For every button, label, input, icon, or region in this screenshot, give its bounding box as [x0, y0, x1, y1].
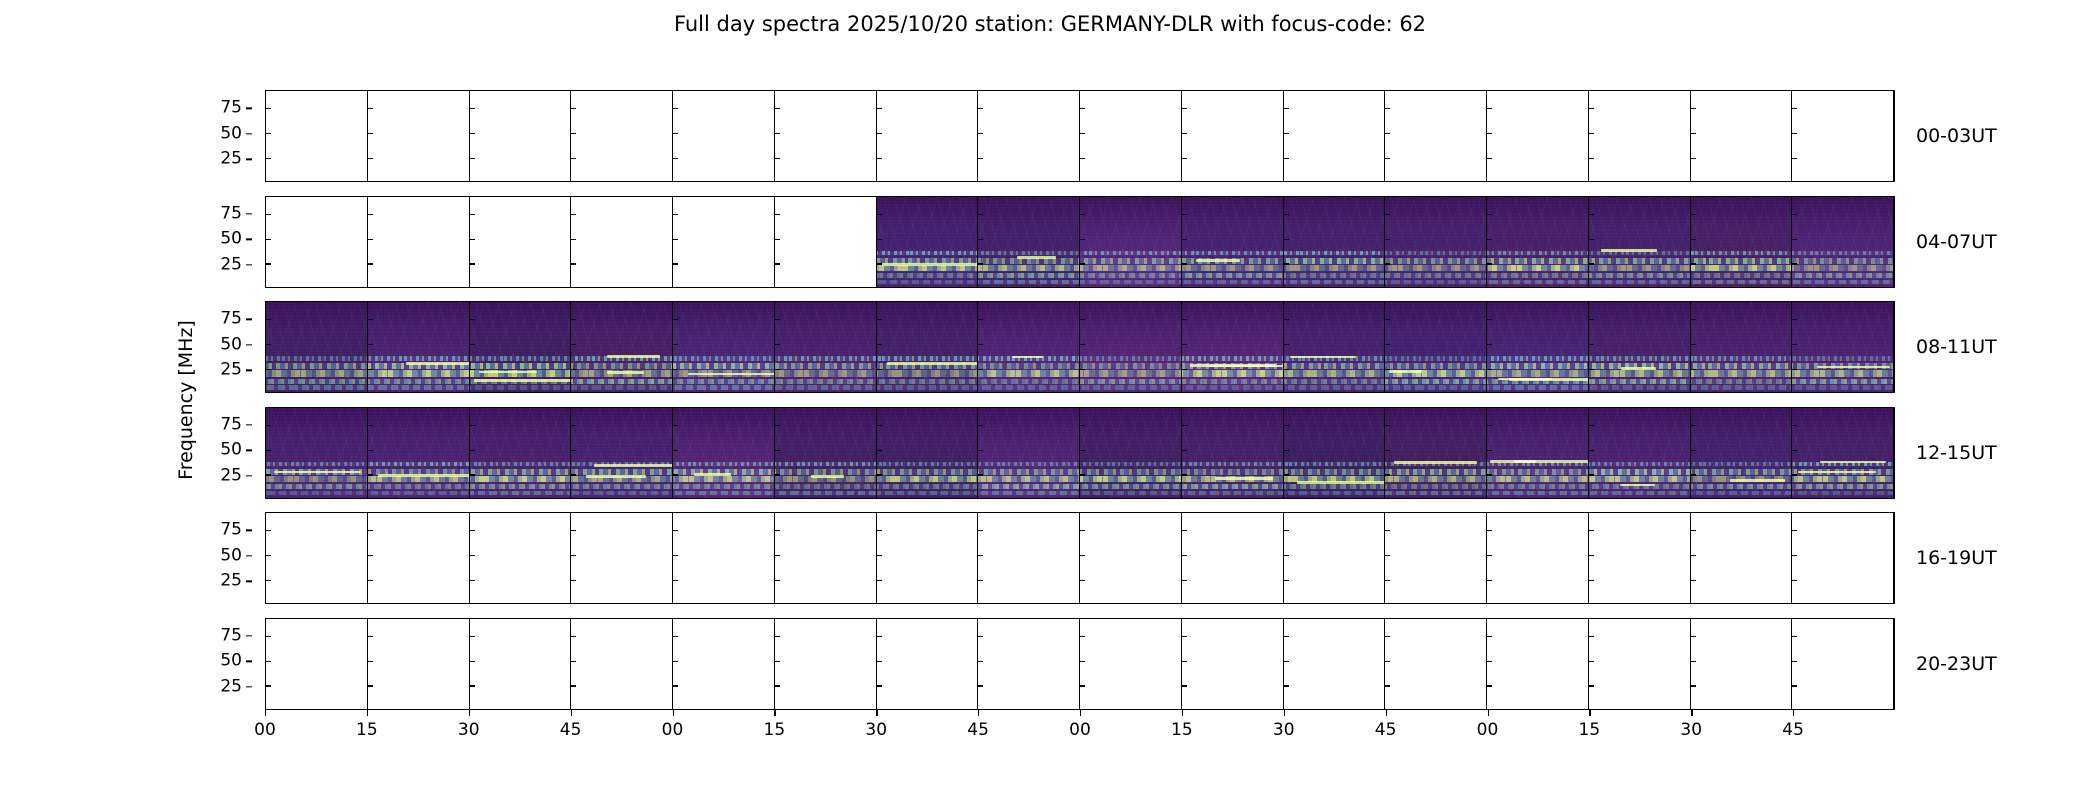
signal-band: [1792, 258, 1893, 264]
panel-tick-mark: [1182, 450, 1187, 451]
panel-tick-mark: [571, 133, 576, 134]
panel-tick-mark: [470, 344, 475, 345]
spectrogram-panel[interactable]: [1691, 408, 1793, 498]
panel-tick-mark: [978, 661, 983, 662]
signal-band: [1080, 258, 1181, 264]
panel-tick-mark: [470, 133, 475, 134]
spectrogram-panel[interactable]: [470, 302, 572, 392]
panel-tick-mark: [1284, 474, 1289, 475]
spectrogram-panel[interactable]: [1284, 302, 1386, 392]
signal-band: [1284, 491, 1385, 496]
spectrogram-image: [1385, 408, 1486, 498]
spectrogram-panel[interactable]: [1080, 91, 1182, 181]
spectrogram-panel[interactable]: [571, 302, 673, 392]
panel-tick-mark: [1691, 661, 1696, 662]
spectrogram-panel[interactable]: [1080, 513, 1182, 603]
panel-tick-mark: [1589, 580, 1594, 581]
panel-tick-mark: [266, 214, 271, 215]
y-tick-labels: 755025: [204, 302, 252, 394]
spectrogram-panel[interactable]: [266, 513, 368, 603]
spectrogram-panel[interactable]: [1385, 408, 1487, 498]
panel-tick-mark: [1385, 661, 1390, 662]
panel-tick-mark: [673, 133, 678, 134]
panel-tick-mark: [1691, 685, 1696, 686]
panel-tick-mark: [1385, 214, 1390, 215]
bright-streak: [1209, 365, 1283, 368]
spectrogram-panel[interactable]: [1284, 197, 1386, 287]
panel-tick-mark: [1691, 344, 1696, 345]
signal-band: [1487, 363, 1588, 369]
panel-tick-mark: [1080, 158, 1085, 159]
spectrogram-panel[interactable]: [368, 197, 470, 287]
panel-tick-mark: [1284, 661, 1289, 662]
spectrogram-panel[interactable]: [877, 91, 979, 181]
spectrogram-panel[interactable]: [1284, 91, 1386, 181]
spectrogram-image: [1691, 197, 1792, 287]
signal-band: [1589, 469, 1690, 475]
spectrogram-row: 75502516-19UT: [265, 512, 1895, 604]
signal-band: [1792, 356, 1893, 361]
spectrogram-panel[interactable]: [775, 197, 877, 287]
panel-tick-mark: [877, 555, 882, 556]
spectrogram-panel[interactable]: [1080, 302, 1182, 392]
panel-tick-mark: [1182, 636, 1187, 637]
panel-tick-mark: [978, 474, 983, 475]
panel-tick-mark: [1792, 425, 1797, 426]
signal-band: [978, 491, 1079, 496]
spectrogram-panel[interactable]: [673, 302, 775, 392]
spectrogram-panel[interactable]: [1691, 197, 1793, 287]
panel-tick-mark: [266, 108, 271, 109]
signal-band: [470, 356, 571, 361]
spectrogram-panel[interactable]: [1792, 302, 1894, 392]
y-tick-labels: 755025: [204, 197, 252, 289]
signal-band: [775, 462, 876, 467]
bright-streak: [1215, 477, 1273, 480]
panel-tick-mark: [673, 369, 678, 370]
panel-tick-mark: [1080, 474, 1085, 475]
signal-band: [571, 363, 672, 369]
spectrogram-panel[interactable]: [571, 197, 673, 287]
panel-tick-mark: [1182, 685, 1187, 686]
panel-tick-mark: [1487, 685, 1492, 686]
signal-band: [368, 385, 469, 390]
panel-tick-mark: [673, 555, 678, 556]
panel-tick-mark: [1284, 263, 1289, 264]
row-time-label: 12-15UT: [1916, 442, 1997, 464]
spectrogram-panel[interactable]: [1589, 302, 1691, 392]
bright-streak: [1394, 461, 1477, 464]
bright-streak: [479, 371, 538, 374]
spectrogram-panel[interactable]: [571, 91, 673, 181]
y-tick-mark: [246, 159, 252, 160]
panel-tick-mark: [571, 636, 576, 637]
spectrogram-panel[interactable]: [1385, 513, 1487, 603]
signal-band: [1792, 251, 1893, 256]
panel-tick-mark: [470, 450, 475, 451]
spectrogram-image: [1284, 408, 1385, 498]
panel-tick-mark: [368, 474, 373, 475]
panel-tick-mark: [978, 344, 983, 345]
y-tick-label: 25: [220, 151, 242, 168]
panel-tick-mark: [1182, 344, 1187, 345]
x-tick-label: 45: [967, 720, 989, 740]
y-tick-mark: [246, 264, 252, 265]
signal-band: [978, 370, 1079, 376]
spectrogram-panel[interactable]: [266, 408, 368, 498]
panel-tick-mark: [571, 661, 576, 662]
panel-tick-mark: [673, 580, 678, 581]
x-tick-label: 45: [1782, 720, 1804, 740]
spectrogram-panel[interactable]: [1589, 197, 1691, 287]
spectrogram-panel[interactable]: [368, 91, 470, 181]
panel-tick-mark: [1182, 661, 1187, 662]
spectrogram-panel[interactable]: [470, 619, 572, 709]
signal-band: [266, 379, 367, 384]
signal-band: [571, 385, 672, 390]
spectrogram-panel[interactable]: [1182, 197, 1284, 287]
signal-band: [368, 491, 469, 496]
spectrogram-panel[interactable]: [1792, 513, 1894, 603]
spectrogram-panel[interactable]: [877, 408, 979, 498]
panel-tick-mark: [266, 263, 271, 264]
spectrogram-panel[interactable]: [1589, 408, 1691, 498]
signal-band: [1080, 385, 1181, 390]
spectrogram-panel[interactable]: [775, 91, 877, 181]
y-tick-label: 25: [220, 573, 242, 590]
x-tick-label: 30: [865, 720, 887, 740]
panel-tick-mark: [1792, 530, 1797, 531]
signal-band: [775, 385, 876, 390]
row-time-label: 04-07UT: [1916, 231, 1997, 253]
spectrogram-panel[interactable]: [266, 302, 368, 392]
spectrogram-panel[interactable]: [1792, 619, 1894, 709]
bright-streak: [694, 473, 731, 476]
spectrogram-panel[interactable]: [978, 197, 1080, 287]
y-tick-mark: [246, 133, 252, 134]
spectrogram-image: [1487, 197, 1588, 287]
spectrogram-panel[interactable]: [1182, 408, 1284, 498]
spectrogram-panel[interactable]: [673, 408, 775, 498]
panel-tick-mark: [1182, 108, 1187, 109]
spectrogram-panel[interactable]: [978, 302, 1080, 392]
panel-tick-mark: [1182, 474, 1187, 475]
x-tick-label: 30: [458, 720, 480, 740]
panel-tick-mark: [266, 319, 271, 320]
spectrogram-panel[interactable]: [978, 513, 1080, 603]
signal-band: [978, 469, 1079, 475]
bright-streak: [274, 471, 361, 474]
spectrogram-panel[interactable]: [775, 302, 877, 392]
signal-band: [1487, 251, 1588, 256]
spectrogram-panel[interactable]: [1182, 619, 1284, 709]
signal-band: [877, 469, 978, 475]
panel-tick-mark: [673, 530, 678, 531]
panel-tick-mark: [1589, 344, 1594, 345]
y-tick-mark: [246, 530, 252, 531]
x-tick-mark: [1284, 710, 1285, 716]
spectrogram-panel[interactable]: [1691, 91, 1793, 181]
x-tick-label: 30: [1273, 720, 1295, 740]
y-tick-mark: [246, 213, 252, 214]
spectrogram-panel[interactable]: [266, 619, 368, 709]
spectrogram-panel[interactable]: [1487, 302, 1589, 392]
panel-tick-mark: [673, 425, 678, 426]
x-tick-mark: [1386, 710, 1387, 716]
signal-band: [978, 484, 1079, 489]
panel-tick-mark: [266, 580, 271, 581]
spectrogram-panel[interactable]: [673, 513, 775, 603]
spectrogram-panel[interactable]: [1284, 619, 1386, 709]
bright-streak: [1620, 484, 1655, 487]
spectrogram-panel[interactable]: [978, 91, 1080, 181]
signal-band: [1487, 370, 1588, 376]
signal-band: [1589, 385, 1690, 390]
panel-tick-mark: [673, 661, 678, 662]
spectrogram-panel[interactable]: [1385, 91, 1487, 181]
panel-tick-mark: [1691, 450, 1696, 451]
spectrogram-panel[interactable]: [877, 513, 979, 603]
panel-tick-mark: [1589, 685, 1594, 686]
spectrogram-panel[interactable]: [673, 197, 775, 287]
panel-tick-mark: [266, 474, 271, 475]
panel-tick-mark: [1385, 555, 1390, 556]
spectrogram-panel[interactable]: [1589, 513, 1691, 603]
panel-tick-mark: [775, 636, 780, 637]
panel-tick-mark: [978, 450, 983, 451]
spectrogram-panel[interactable]: [1691, 513, 1793, 603]
spectrogram-panel[interactable]: [470, 91, 572, 181]
panel-tick-mark: [571, 263, 576, 264]
spectrogram-panel[interactable]: [266, 91, 368, 181]
panel-tick-mark: [1691, 425, 1696, 426]
panel-tick-mark: [1792, 580, 1797, 581]
y-tick-label: 25: [220, 362, 242, 379]
spectrogram-panel[interactable]: [368, 302, 470, 392]
spectrogram-panel[interactable]: [1792, 408, 1894, 498]
spectrogram-panel[interactable]: [1284, 408, 1386, 498]
signal-band: [1691, 484, 1792, 489]
panel-tick-mark: [1182, 369, 1187, 370]
panel-tick-mark: [1182, 530, 1187, 531]
x-tick-mark: [1589, 710, 1590, 716]
row-time-label: 00-03UT: [1916, 125, 1997, 147]
panel-tick-mark: [1182, 239, 1187, 240]
panel-tick-mark: [1589, 239, 1594, 240]
y-tick-label: 75: [220, 522, 242, 539]
signal-band: [1080, 370, 1181, 376]
spectrogram-panel[interactable]: [1792, 91, 1894, 181]
spectrogram-image: [1487, 302, 1588, 392]
spectrogram-panel[interactable]: [1487, 513, 1589, 603]
signal-band: [266, 484, 367, 489]
spectrogram-panel[interactable]: [470, 197, 572, 287]
y-tick-mark: [246, 319, 252, 320]
y-tick-labels: 755025: [204, 619, 252, 711]
panel-tick-mark: [1385, 580, 1390, 581]
signal-band: [1589, 265, 1690, 271]
panel-tick-mark: [978, 108, 983, 109]
panel-tick-mark: [1589, 450, 1594, 451]
panel-tick-mark: [1691, 636, 1696, 637]
panel-tick-mark: [877, 425, 882, 426]
spectrogram-panel[interactable]: [1284, 513, 1386, 603]
panel-tick-mark: [775, 158, 780, 159]
panel-tick-mark: [571, 239, 576, 240]
spectrogram-panel[interactable]: [368, 619, 470, 709]
panel-tick-mark: [1080, 108, 1085, 109]
signal-band: [571, 469, 672, 475]
bright-streak: [607, 371, 645, 374]
panel-tick-mark: [368, 319, 373, 320]
spectrogram-panel[interactable]: [1487, 619, 1589, 709]
bright-streak: [594, 464, 673, 467]
spectrogram-panel[interactable]: [1589, 91, 1691, 181]
panel-tick-mark: [1487, 319, 1492, 320]
spectrogram-panel[interactable]: [1182, 91, 1284, 181]
panel-tick-mark: [1487, 239, 1492, 240]
spectrogram-panel[interactable]: [571, 408, 673, 498]
signal-band: [673, 462, 774, 467]
panel-tick-mark: [1691, 555, 1696, 556]
panel-tick-mark: [775, 661, 780, 662]
panel-tick-mark: [775, 580, 780, 581]
spectrogram-panel[interactable]: [877, 619, 979, 709]
panel-tick-mark: [368, 450, 373, 451]
panel-tick-mark: [673, 636, 678, 637]
signal-band: [266, 356, 367, 361]
signal-band: [673, 385, 774, 390]
spectrogram-image: [1080, 408, 1181, 498]
spectrogram-panel[interactable]: [1487, 91, 1589, 181]
y-tick-mark: [246, 475, 252, 476]
spectrogram-panel[interactable]: [775, 408, 877, 498]
panel-tick-mark: [1792, 636, 1797, 637]
signal-band: [1589, 273, 1690, 278]
panel-tick-mark: [1589, 214, 1594, 215]
panel-tick-mark: [1080, 263, 1085, 264]
signal-band: [1691, 251, 1792, 256]
spectrogram-panel[interactable]: [1385, 197, 1487, 287]
signal-band: [266, 363, 367, 369]
x-tick-mark: [1080, 710, 1081, 716]
panel-tick-mark: [1080, 344, 1085, 345]
spectrogram-panel[interactable]: [470, 408, 572, 498]
signal-band: [673, 356, 774, 361]
signal-band: [1691, 385, 1792, 390]
spectrogram-panel[interactable]: [1080, 619, 1182, 709]
spectrogram-panel[interactable]: [1080, 197, 1182, 287]
spectrogram-panel[interactable]: [1589, 619, 1691, 709]
spectrogram-panel[interactable]: [1080, 408, 1182, 498]
panel-tick-mark: [470, 158, 475, 159]
panel-tick-mark: [1792, 108, 1797, 109]
spectrogram-panel[interactable]: [1385, 302, 1487, 392]
spectrogram-panel[interactable]: [1182, 513, 1284, 603]
signal-band: [1691, 356, 1792, 361]
signal-band: [978, 462, 1079, 467]
panel-tick-mark: [1589, 369, 1594, 370]
panel-tick-mark: [470, 214, 475, 215]
spectrogram-panel[interactable]: [470, 513, 572, 603]
signal-band: [1385, 356, 1486, 361]
panel-tick-mark: [1792, 555, 1797, 556]
signal-band: [1182, 356, 1283, 361]
panel-tick-mark: [266, 661, 271, 662]
panel-tick-mark: [1182, 158, 1187, 159]
signal-band: [775, 370, 876, 376]
x-tick-mark: [1488, 710, 1489, 716]
panel-tick-mark: [1589, 158, 1594, 159]
bright-streak: [1621, 367, 1656, 370]
spectrogram-panel[interactable]: [266, 197, 368, 287]
signal-band: [877, 251, 978, 256]
spectrogram-panel[interactable]: [368, 513, 470, 603]
spectrogram-panel[interactable]: [673, 619, 775, 709]
panel-tick-mark: [571, 344, 576, 345]
panel-tick-mark: [1691, 319, 1696, 320]
panel-tick-mark: [877, 530, 882, 531]
spectrogram-panel[interactable]: [673, 91, 775, 181]
spectrogram-panel[interactable]: [368, 408, 470, 498]
signal-band: [1385, 491, 1486, 496]
signal-band: [470, 491, 571, 496]
panel-tick-mark: [1589, 636, 1594, 637]
panel-tick-mark: [368, 158, 373, 159]
spectrogram-panel[interactable]: [571, 513, 673, 603]
row-time-label: 20-23UT: [1916, 653, 1997, 675]
signal-band: [673, 484, 774, 489]
spectrogram-panel[interactable]: [978, 619, 1080, 709]
spectrogram-image: [1589, 302, 1690, 392]
signal-band: [1080, 251, 1181, 256]
panel-tick-mark: [1284, 425, 1289, 426]
signal-band: [1487, 273, 1588, 278]
signal-band: [1182, 469, 1283, 475]
x-tick-label: 45: [1375, 720, 1397, 740]
spectrogram-panel[interactable]: [877, 302, 979, 392]
y-tick-label: 25: [220, 467, 242, 484]
spectrogram-panel[interactable]: [1487, 408, 1589, 498]
panel-tick-mark: [571, 158, 576, 159]
panel-tick-mark: [1792, 133, 1797, 134]
panel-tick-mark: [1792, 214, 1797, 215]
signal-band: [1589, 280, 1690, 285]
panel-tick-mark: [266, 425, 271, 426]
signal-band: [978, 280, 1079, 285]
signal-band: [1385, 273, 1486, 278]
signal-band: [1589, 356, 1690, 361]
spectrogram-panel[interactable]: [978, 408, 1080, 498]
spectrogram-panel[interactable]: [1691, 619, 1793, 709]
signal-band: [470, 484, 571, 489]
spectrogram-panel[interactable]: [571, 619, 673, 709]
bright-streak: [688, 373, 775, 376]
spectrogram-panel[interactable]: [1385, 619, 1487, 709]
signal-band: [1080, 462, 1181, 467]
spectrogram-panel[interactable]: [775, 619, 877, 709]
spectrogram-panel[interactable]: [775, 513, 877, 603]
signal-band: [877, 379, 978, 384]
panel-tick-mark: [1691, 214, 1696, 215]
spectrogram-panel[interactable]: [1691, 302, 1793, 392]
bright-streak: [474, 379, 572, 382]
spectrogram-panel[interactable]: [1487, 197, 1589, 287]
signal-band: [1691, 258, 1792, 264]
spectrogram-panel[interactable]: [1792, 197, 1894, 287]
spectrogram-panel[interactable]: [877, 197, 979, 287]
spectrogram-panel[interactable]: [1182, 302, 1284, 392]
